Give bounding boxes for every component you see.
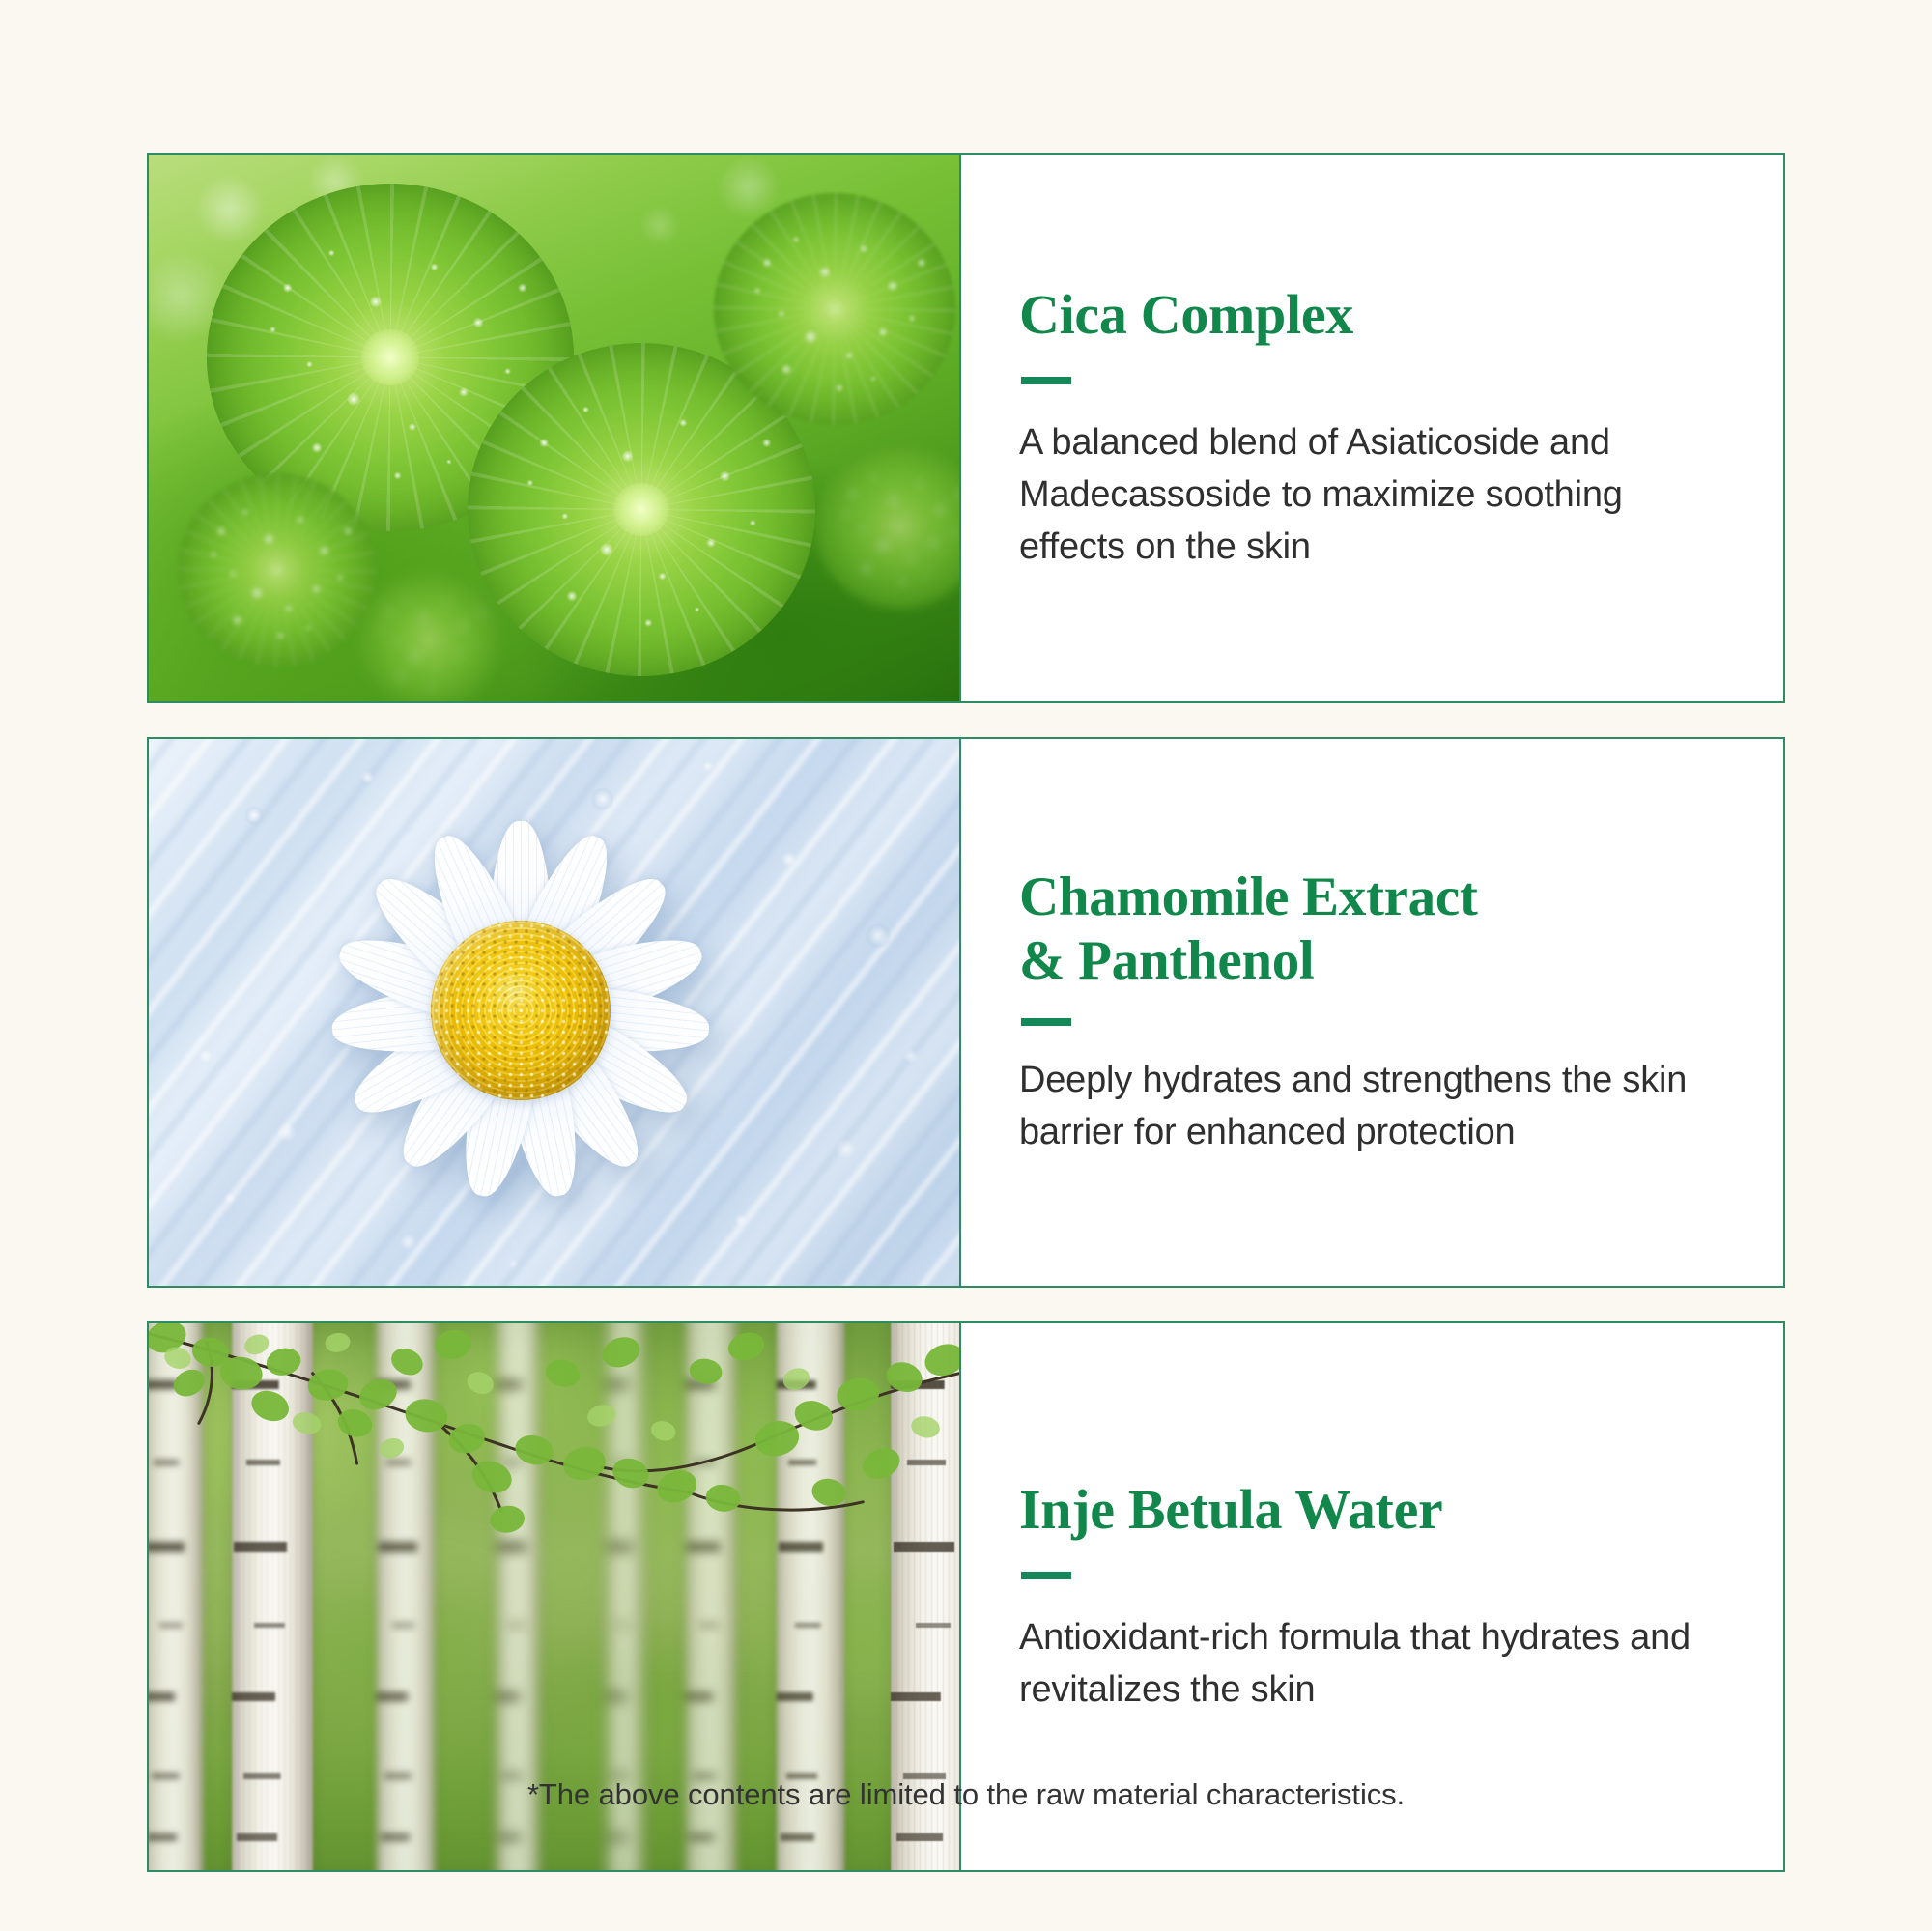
centella-leaves-with-water-droplets-photo bbox=[149, 155, 961, 701]
ingredient-title-line-2: & Panthenol bbox=[1019, 930, 1314, 991]
ingredient-description: Antioxidant-rich formula that hydrates a… bbox=[1019, 1612, 1737, 1717]
centella-leaf bbox=[356, 570, 501, 701]
centella-leaf bbox=[714, 193, 955, 425]
ingredient-card-cica-complex: Cica Complex A balanced blend of Asiatic… bbox=[147, 153, 1785, 703]
leaf-center-highlight bbox=[361, 329, 420, 385]
ingredient-description: A balanced blend of Asiaticoside and Mad… bbox=[1019, 417, 1737, 574]
title-divider-dash bbox=[1021, 377, 1071, 384]
ingredient-title: Cica Complex bbox=[1019, 282, 1737, 347]
ingredient-card-list: Cica Complex A balanced blend of Asiatic… bbox=[147, 153, 1785, 1872]
title-divider-dash bbox=[1021, 1018, 1071, 1026]
ingredient-title: Inje Betula Water bbox=[1019, 1477, 1737, 1542]
ingredient-text-panel: Chamomile Extract & Panthenol Deeply hyd… bbox=[961, 739, 1783, 1286]
chamomile-flower bbox=[294, 783, 748, 1237]
title-divider-dash bbox=[1021, 1572, 1071, 1579]
ingredient-title: Chamomile Extract & Panthenol bbox=[1019, 866, 1737, 993]
leaf-center-highlight bbox=[613, 483, 669, 536]
ingredient-card-chamomile-panthenol: Chamomile Extract & Panthenol Deeply hyd… bbox=[147, 737, 1785, 1288]
ingredient-title-line-1: Chamomile Extract bbox=[1019, 866, 1478, 927]
ingredient-text-panel: Cica Complex A balanced blend of Asiatic… bbox=[961, 155, 1783, 701]
disclaimer-footnote: *The above contents are limited to the r… bbox=[0, 1777, 1932, 1812]
centella-leaf bbox=[178, 473, 376, 667]
chamomile-flower-on-blue-gel-photo bbox=[149, 739, 961, 1286]
ingredient-description: Deeply hydrates and strengthens the skin… bbox=[1019, 1055, 1737, 1159]
ingredient-infographic: Cica Complex A balanced blend of Asiatic… bbox=[0, 0, 1932, 1931]
flower-disc-center bbox=[431, 921, 611, 1100]
